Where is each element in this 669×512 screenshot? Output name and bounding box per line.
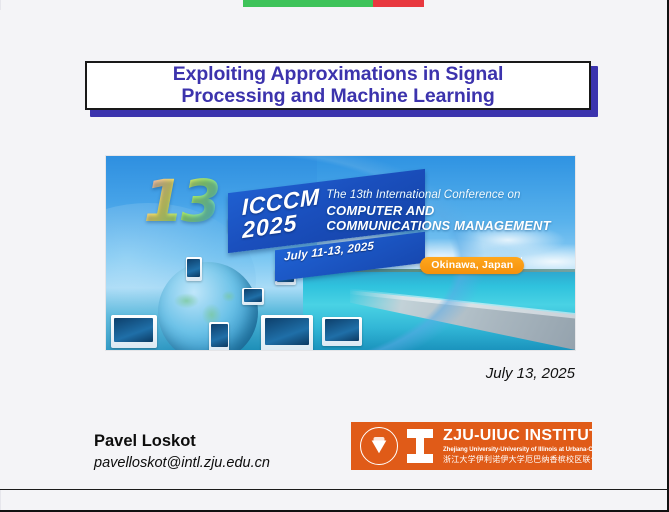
tablet-icon <box>209 322 229 350</box>
slide-title-plaque: Exploiting Approximations in Signal Proc… <box>85 61 593 112</box>
author-block: Pavel Loskot pavelloskot@intl.zju.edu.cn <box>94 431 270 472</box>
banner-title-block: The 13th International Conference on COM… <box>326 189 570 234</box>
slide-bottom-rule <box>0 489 669 490</box>
author-name: Pavel Loskot <box>94 431 270 452</box>
monitor-icon <box>111 315 157 348</box>
banner-headline: The 13th International Conference on <box>326 189 570 201</box>
slide-viewer: Exploiting Approximations in Signal Proc… <box>0 0 669 512</box>
institute-name: ZJU-UIUC INSTITUTE <box>443 427 592 445</box>
progress-done-segment <box>243 0 373 7</box>
institute-subtitle-en: Zhejiang University-University of Illino… <box>443 447 592 454</box>
monitor-icon <box>322 317 362 346</box>
banner-edition-number: 13 <box>144 172 219 230</box>
conference-banner-image: 13 ICCCM 2025 July 11-13, 2025 The 13th … <box>106 156 575 350</box>
slide-date: July 13, 2025 <box>486 365 575 382</box>
author-email[interactable]: pavelloskot@intl.zju.edu.cn <box>94 454 270 473</box>
institute-subtitle-cn: 浙江大学伊利诺伊大学厄巴纳香槟校区联合学院 <box>443 456 592 465</box>
title-plaque-box: Exploiting Approximations in Signal Proc… <box>85 61 591 110</box>
banner-location-badge: Okinawa, Japan <box>420 257 524 274</box>
slide-canvas[interactable]: Exploiting Approximations in Signal Proc… <box>0 10 655 489</box>
banner-subject-line-1: COMPUTER AND <box>326 203 570 218</box>
progress-remaining-segment <box>373 0 424 7</box>
presentation-progress-bar[interactable] <box>243 0 424 7</box>
page-title: Exploiting Approximations in Signal Proc… <box>173 64 504 106</box>
block-i-icon <box>407 429 433 463</box>
banner-subject-line-2: COMMUNICATIONS MANAGEMENT <box>326 218 570 233</box>
phone-icon <box>186 257 202 281</box>
laptop-icon <box>242 288 264 305</box>
institute-logo-text: ZJU-UIUC INSTITUTE Zhejiang University-U… <box>443 427 592 464</box>
laptop-icon <box>261 315 313 350</box>
institute-logo: ZJU-UIUC INSTITUTE Zhejiang University-U… <box>351 422 592 470</box>
university-seal-icon <box>360 427 398 465</box>
